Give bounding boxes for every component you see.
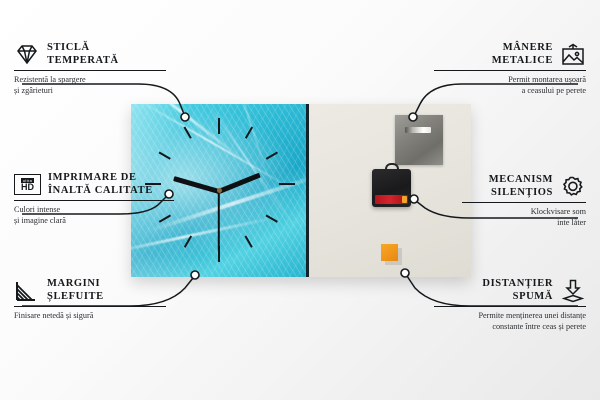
feature-title-line1: DISTANȚIER [482,278,553,289]
feature-desc-line2: inte låter [557,218,586,227]
feature-title-line1: IMPRIMARE DE [48,172,137,183]
spacer-arrow-icon [560,279,586,303]
feature-desc-line1: Culori intense [14,205,60,214]
clock-hour-hand [218,173,261,194]
divider [434,306,586,307]
clock-tick [266,152,278,160]
feature-manere-metalice: MÂNERE METALICE Permit montarea ușoară a… [434,42,586,96]
feature-desc-line2: și imagine clară [14,216,66,225]
clock-mechanism [372,169,411,207]
feature-desc-line1: Permit montarea ușoară [508,75,586,84]
feature-title-line2: TEMPERATĂ [47,55,119,66]
hanger-plate [395,115,443,165]
gear-icon [560,175,586,199]
divider [14,200,174,201]
mechanism-hook [385,163,399,172]
clock-tick [159,152,171,160]
feature-title-line2: SILENȚIOS [491,187,553,198]
ultra-hd-icon: ultra HD [14,174,41,195]
feature-title-line2: ȘLEFUITE [47,291,104,302]
feature-title-line2: ÎNALTĂ CALITATE [48,185,153,196]
feature-desc-line2: și zgârieturi [14,86,53,95]
feature-desc-line1: Rezistentă la spargere [14,75,86,84]
infographic-canvas: STICLĂ TEMPERATĂ Rezistentă la spargere … [0,0,600,400]
battery-terminal [402,196,407,203]
feature-desc-line2: a ceasului pe perete [522,86,586,95]
divider [14,306,166,307]
hanger-slot [405,127,431,133]
divider [434,70,586,71]
clock-minute-hand [173,176,220,194]
feature-imprimare-inalta-calitate: ultra HD IMPRIMARE DE ÎNALTĂ CALITATE Cu… [14,172,174,226]
foam-spacer [381,244,398,261]
diamond-icon [14,43,40,67]
feature-title-line1: MECANISM [489,174,553,185]
clock-center-cap [217,188,222,193]
feature-title-line1: MARGINI [47,278,100,289]
battery [375,195,408,204]
divider [14,70,166,71]
picture-frame-icon [560,43,586,67]
feature-mecanism-silentios: MECANISM SILENȚIOS Klockvisare som inte … [462,174,586,228]
feature-desc-line1: Klockvisare som [531,207,586,216]
feature-title-line1: MÂNERE [503,42,553,53]
clock-tick [279,183,295,185]
feature-title-line1: STICLĂ [47,42,90,53]
feature-desc-line1: Finisare netedă și sigură [14,311,93,320]
feature-sticla-temperata: STICLĂ TEMPERATĂ Rezistentă la spargere … [14,42,166,96]
divider [462,202,586,203]
feature-margini-slefuite: MARGINI ȘLEFUITE Finisare netedă și sigu… [14,278,166,322]
feature-title-line2: SPUMĂ [513,291,553,302]
beveled-edge-icon [14,279,40,303]
feature-distantier-spuma: DISTANȚIER SPUMĂ Permite menținerea unei… [434,278,586,332]
clock-tick [218,118,220,134]
clock-tick [245,235,253,247]
clock-second-hand [218,191,220,251]
feature-desc-line1: Permite menținerea unei distanțe [478,311,586,320]
ultra-hd-main-label: HD [21,183,34,192]
product-image [131,104,471,277]
feature-desc-line2: constante între ceas și perete [492,322,586,331]
feature-title-line2: METALICE [492,55,553,66]
